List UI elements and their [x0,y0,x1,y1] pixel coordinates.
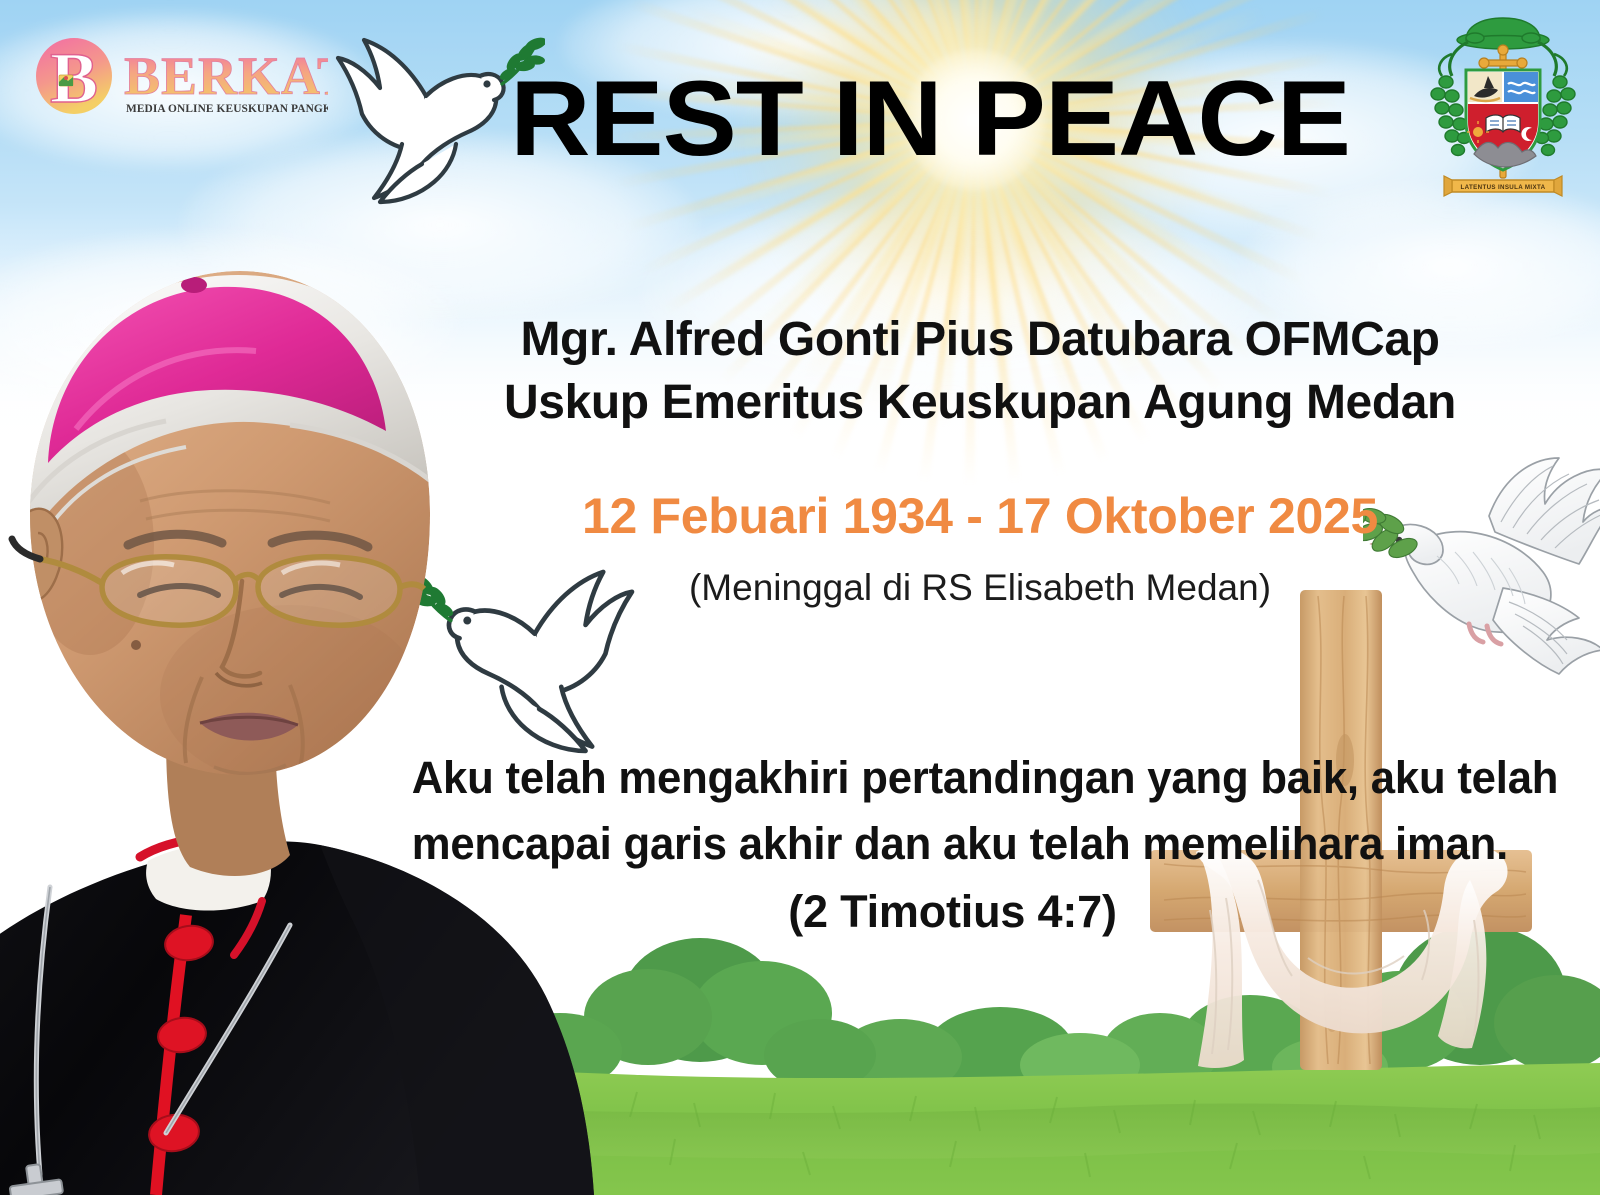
logo-wordmark: BERKAT [124,46,328,106]
scripture-quote: Aku telah mengakhiri pertandingan yang b… [395,745,1510,947]
coat-of-arms-motto: LATENTUS INSULA MIXTA [1461,184,1546,191]
logo-tagline: MEDIA ONLINE KEUSKUPAN PANGKALPINANG [126,103,328,115]
deceased-title: Uskup Emeritus Keuskupan Agung Medan [400,371,1560,434]
scripture-line-2: mencapai garis akhir dan aku telah memel… [412,811,1494,877]
page-title: REST IN PEACE [504,58,1357,178]
life-dates: 12 Febuari 1934 - 17 Oktober 2025 [400,487,1560,545]
logo-letter: B [50,38,98,118]
berkat-logo: B BERKAT MEDIA ONLINE KEUSKUPAN PANGKALP… [28,32,328,124]
memorial-poster: B BERKAT MEDIA ONLINE KEUSKUPAN PANGKALP… [0,0,1600,1195]
deceased-name: Mgr. Alfred Gonti Pius Datubara OFMCap [400,308,1560,371]
scripture-reference: (2 Timotius 4:7) [395,877,1510,947]
deceased-name-block: Mgr. Alfred Gonti Pius Datubara OFMCap U… [400,308,1560,434]
place-of-death: (Meninggal di RS Elisabeth Medan) [400,565,1560,611]
scripture-line-1: Aku telah mengakhiri pertandingan yang b… [412,745,1494,811]
coat-of-arms: LATENTUS INSULA MIXTA [1418,14,1588,204]
